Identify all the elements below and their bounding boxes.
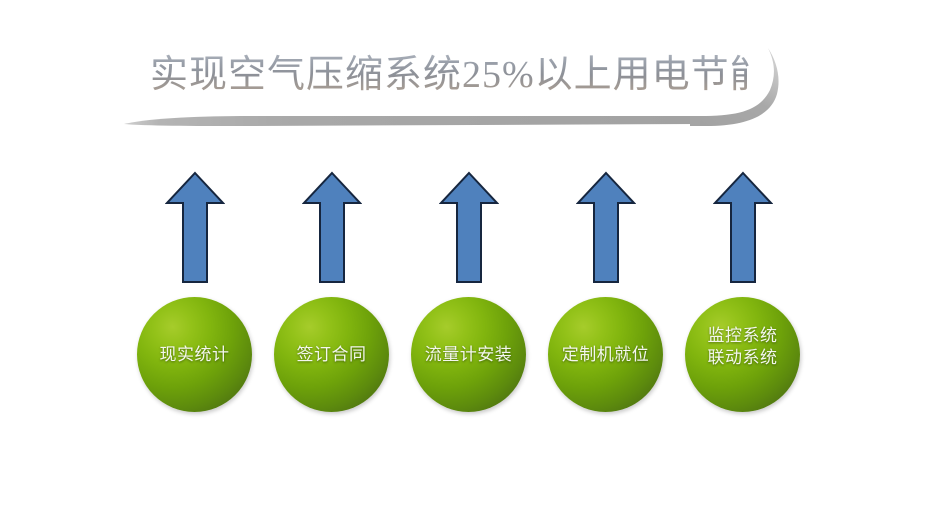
step-label-5: 监控系统 联动系统 [708,325,778,369]
up-arrow-icon [165,170,225,285]
step-label-3: 流量计安装 [425,344,513,366]
up-arrow-icon [713,170,773,285]
step-circle-4[interactable]: 定制机就位 [548,297,663,412]
step-label-2: 签订合同 [297,344,367,366]
process-step-4[interactable]: 定制机就位 [548,170,663,420]
step-label-4: 定制机就位 [562,344,650,366]
step-label-1: 现实统计 [160,344,230,366]
up-arrow-icon [576,170,636,285]
step-circle-2[interactable]: 签订合同 [274,297,389,412]
up-arrow-icon [439,170,499,285]
up-arrow-icon [302,170,362,285]
step-circle-5[interactable]: 监控系统 联动系统 [685,297,800,412]
process-step-1[interactable]: 现实统计 [137,170,252,420]
step-circle-3[interactable]: 流量计安装 [411,297,526,412]
slide-canvas: 实现空气压缩系统25%以上用电节能 现实统计 签订合同 流量计安装 [0,0,945,529]
title-banner-group: 实现空气压缩系统25%以上用电节能 [0,0,945,160]
step-circle-1[interactable]: 现实统计 [137,297,252,412]
process-step-5[interactable]: 监控系统 联动系统 [685,170,800,420]
page-title: 实现空气压缩系统25%以上用电节能 [150,46,750,104]
process-steps-group: 现实统计 签订合同 流量计安装 定制机就位 [137,170,802,420]
process-step-2[interactable]: 签订合同 [274,170,389,420]
process-step-3[interactable]: 流量计安装 [411,170,526,420]
